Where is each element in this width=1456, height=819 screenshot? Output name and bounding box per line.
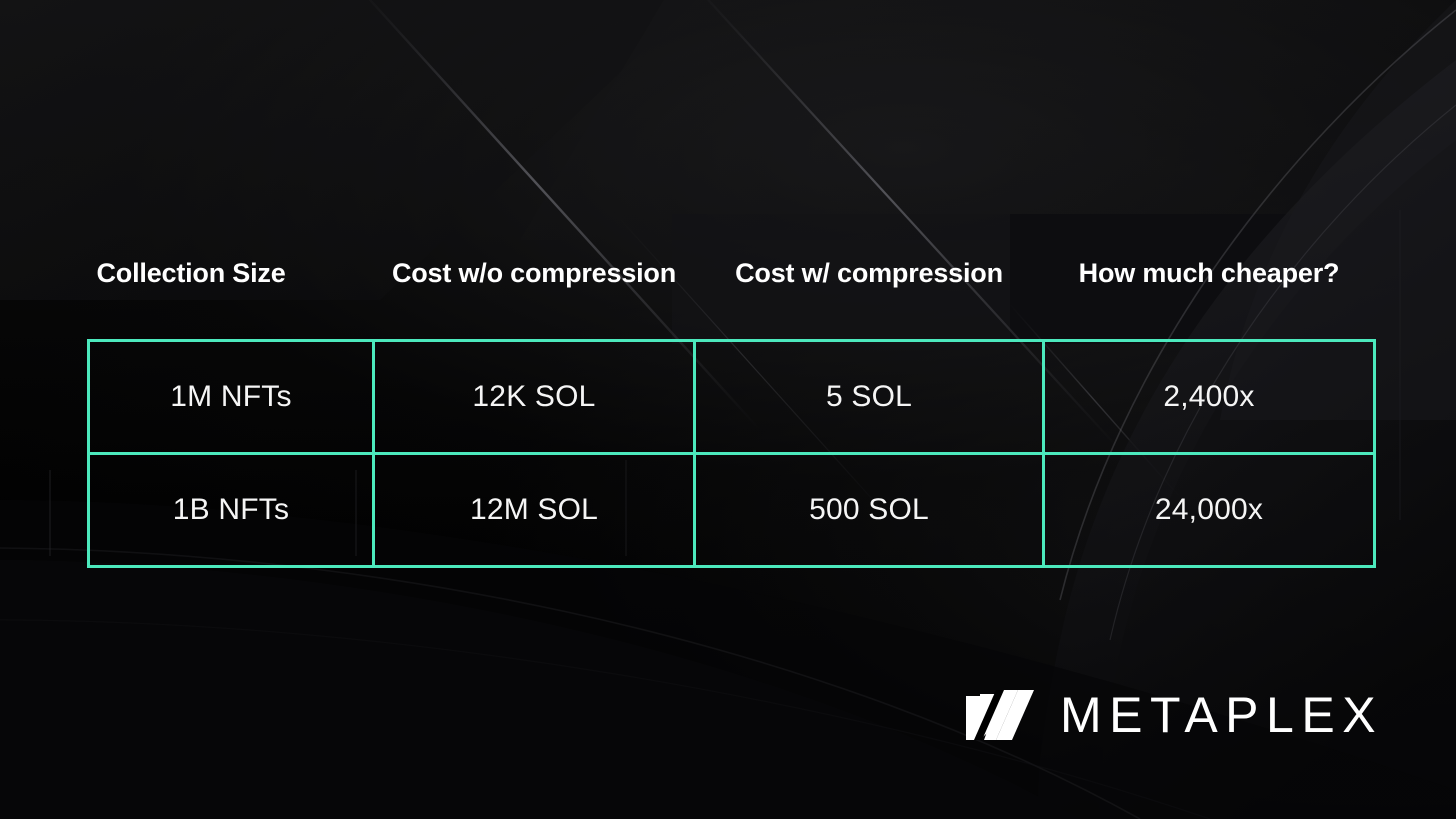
table-header-row: Collection Size Cost w/o compression Cos… [89,207,1375,341]
cell-how-much-cheaper: 24,000x [1044,454,1375,567]
table-body: 1M NFTs 12K SOL 5 SOL 2,400x 1B NFTs 12M… [89,341,1375,567]
table-row: 1B NFTs 12M SOL 500 SOL 24,000x [89,454,1375,567]
table-row: 1M NFTs 12K SOL 5 SOL 2,400x [89,341,1375,454]
comparison-table: Collection Size Cost w/o compression Cos… [87,207,1376,568]
metaplex-m-mark-icon [966,690,1034,740]
column-header-collection-size: Collection Size [89,207,374,341]
metaplex-wordmark: METAPLEX [1060,690,1383,740]
cell-collection-size: 1B NFTs [89,454,374,567]
column-header-cost-with-compression: Cost w/ compression [695,207,1044,341]
cell-cost-without-compression: 12M SOL [374,454,695,567]
cell-how-much-cheaper: 2,400x [1044,341,1375,454]
cell-cost-without-compression: 12K SOL [374,341,695,454]
cell-cost-with-compression: 500 SOL [695,454,1044,567]
comparison-table-wrapper: Collection Size Cost w/o compression Cos… [87,207,1373,568]
slide-canvas: Collection Size Cost w/o compression Cos… [0,0,1456,819]
column-header-cost-without-compression: Cost w/o compression [374,207,695,341]
cell-collection-size: 1M NFTs [89,341,374,454]
cell-cost-with-compression: 5 SOL [695,341,1044,454]
metaplex-logo: METAPLEX [966,690,1383,740]
column-header-how-much-cheaper: How much cheaper? [1044,207,1375,341]
